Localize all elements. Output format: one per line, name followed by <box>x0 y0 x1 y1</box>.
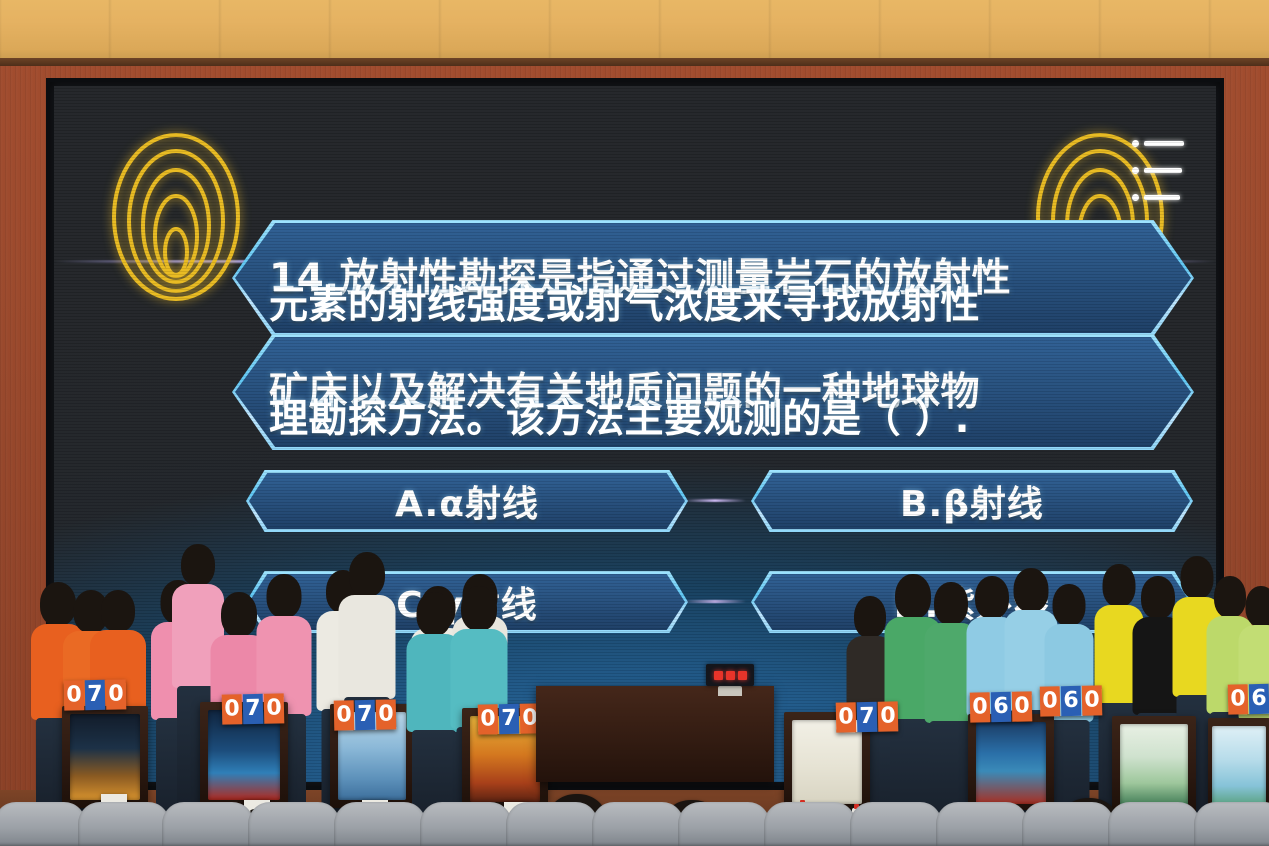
team-score-display: 0 6 0 <box>1040 685 1103 716</box>
team-score-display: 0 6 0 <box>970 691 1033 722</box>
head <box>417 592 452 636</box>
score-digit: 0 <box>1040 686 1061 716</box>
audience-chair <box>162 802 254 846</box>
stage-scene: 14.放射性勘探是指通过测量岩石的放射性 元素的射线强度或射气浓度来寻找放射性 … <box>0 0 1269 846</box>
option-b-label: B.β射线 <box>754 475 1190 527</box>
score-digit: 0 <box>878 701 899 731</box>
score-digit: 7 <box>355 700 376 730</box>
team-poster <box>976 722 1046 804</box>
head <box>1053 584 1086 626</box>
question-line-2: 元素的射线强度或射气浓度来寻找放射性 <box>235 280 980 331</box>
timer-stand <box>718 686 742 696</box>
team-podium <box>62 706 148 808</box>
torso <box>339 595 396 699</box>
audience-chair <box>850 802 942 846</box>
head <box>1141 576 1175 619</box>
head <box>221 592 257 637</box>
audience-chair <box>248 802 340 846</box>
score-digit: 6 <box>1061 686 1082 716</box>
team-poster <box>1120 724 1188 806</box>
head <box>267 574 302 618</box>
team-score-display: 0 7 0 <box>64 679 127 710</box>
score-digit: 7 <box>243 694 264 724</box>
team-podium <box>1112 716 1196 812</box>
audience-chair <box>334 802 426 846</box>
score-digit: 0 <box>222 694 243 724</box>
audience-chair <box>1108 802 1200 846</box>
bullet-dash-icon <box>1144 168 1182 173</box>
head <box>101 590 135 632</box>
audience-chair <box>506 802 598 846</box>
team-poster <box>1212 726 1266 806</box>
audience-chair <box>936 802 1028 846</box>
audience-chair <box>78 802 170 846</box>
audience-chair <box>678 802 770 846</box>
ornament-left <box>72 122 204 312</box>
audience-chair <box>0 802 86 846</box>
head <box>349 552 385 597</box>
score-digit: 6 <box>1249 684 1269 714</box>
team-poster <box>70 714 140 800</box>
team-score-display: 0 7 0 <box>836 701 899 732</box>
team-score-display: 0 7 0 <box>222 693 285 724</box>
head <box>1246 586 1269 627</box>
score-digit: 7 <box>85 680 106 710</box>
score-digit: 0 <box>1228 684 1249 714</box>
team-score-display: 0 7 0 <box>334 699 397 730</box>
head <box>854 596 886 638</box>
bullet-dash-icon <box>1144 195 1180 200</box>
wall-upper-panel <box>0 0 1269 62</box>
score-digit: 6 <box>991 692 1012 722</box>
option-a[interactable]: A.α射线 <box>249 473 685 529</box>
bullet-row <box>1132 167 1198 174</box>
score-digit: 7 <box>857 702 878 732</box>
score-digit: 0 <box>264 693 285 723</box>
audience-chair <box>420 802 512 846</box>
head <box>1103 564 1136 607</box>
team-score-display: 0 6 0 <box>1228 683 1269 714</box>
audience-chair <box>592 802 684 846</box>
bullet-dot-icon <box>1132 140 1139 147</box>
score-digit: 0 <box>334 700 355 730</box>
score-digit: 0 <box>1012 691 1033 721</box>
option-connector <box>684 600 746 603</box>
audience-chair <box>764 802 856 846</box>
question-line-4: 理勘探方法。该方法主要观测的是（ ）. <box>235 394 970 445</box>
bullet-list-icon <box>1132 140 1198 221</box>
timer-led-icon <box>738 671 747 680</box>
head <box>181 544 215 586</box>
judge-table <box>536 686 774 782</box>
bullet-dot-icon <box>1132 194 1139 201</box>
team-score-display: 0 7 0 <box>478 703 541 734</box>
option-a-label: A.α射线 <box>249 475 685 527</box>
bullet-row <box>1132 194 1198 201</box>
team-poster <box>792 720 862 804</box>
score-digit: 0 <box>106 679 127 709</box>
score-digit: 0 <box>1082 685 1103 715</box>
head <box>934 582 968 625</box>
nested-ellipses-icon <box>72 122 204 312</box>
score-digit: 0 <box>970 692 991 722</box>
audience-chair <box>1194 802 1269 846</box>
bullet-dot-icon <box>1132 167 1139 174</box>
bullet-dash-icon <box>1144 141 1184 146</box>
score-digit: 0 <box>836 702 857 732</box>
score-digit: 0 <box>376 699 397 729</box>
team-podium <box>968 714 1054 810</box>
score-digit: 7 <box>499 704 520 734</box>
bullet-row <box>1132 140 1198 147</box>
score-digit: 0 <box>478 704 499 734</box>
audience-chair <box>1022 802 1114 846</box>
option-connector <box>684 499 746 502</box>
countdown-timer <box>706 664 754 686</box>
option-b[interactable]: B.β射线 <box>754 473 1190 529</box>
timer-led-icon <box>714 671 723 680</box>
score-digit: 0 <box>64 680 85 710</box>
head <box>461 586 497 631</box>
timer-led-icon <box>726 671 735 680</box>
team-podium <box>1208 718 1269 812</box>
